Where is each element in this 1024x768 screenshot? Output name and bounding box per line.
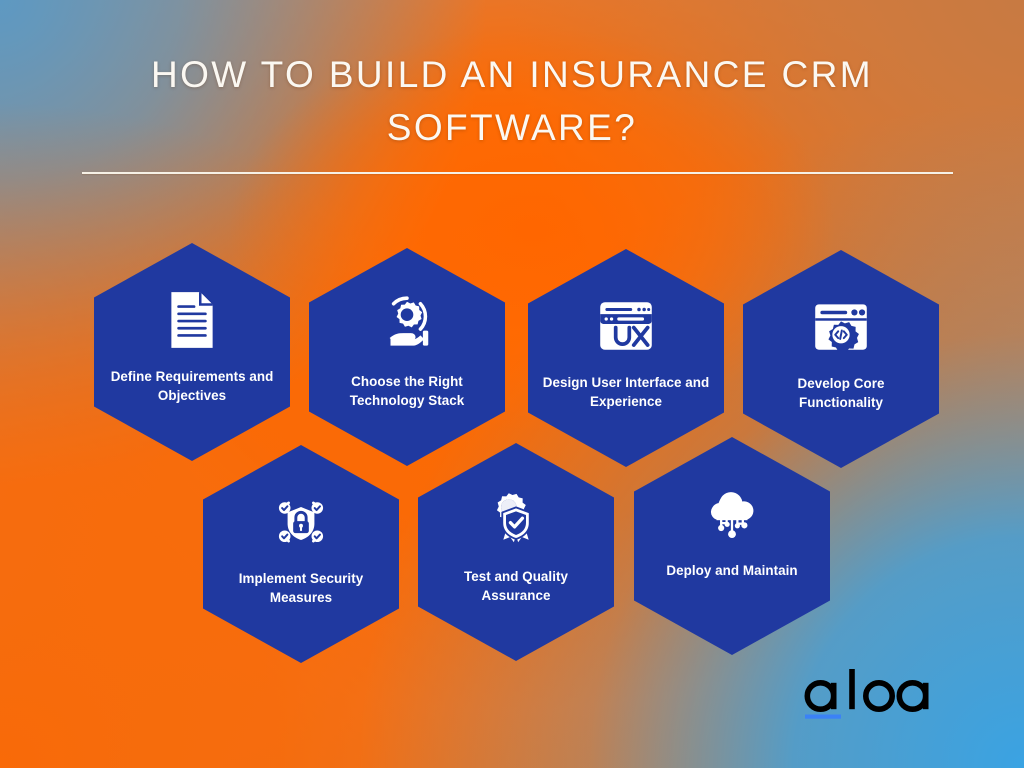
browser-ux-icon	[593, 293, 659, 359]
step-label: Design User Interface and Experience	[540, 373, 712, 411]
step-label: Implement Security Measures	[215, 569, 387, 607]
aloa-logo[interactable]	[800, 660, 950, 728]
page-title-line-1: HOW TO BUILD AN INSURANCE CRM	[0, 48, 1024, 101]
step-label: Test and Quality Assurance	[430, 567, 602, 605]
step-hexagon-test-quality[interactable]: Test and Quality Assurance	[418, 443, 614, 661]
step-hexagon-deploy-maintain[interactable]: Deploy and Maintain	[634, 437, 830, 655]
step-label: Deploy and Maintain	[646, 561, 818, 580]
browser-gear-code-icon	[808, 294, 874, 360]
logo-underline-accent	[805, 715, 841, 719]
step-label: Choose the Right Technology Stack	[321, 372, 493, 410]
step-hexagon-design-ui-ux[interactable]: Design User Interface and Experience	[528, 249, 724, 467]
title-divider-rule	[82, 172, 953, 174]
page-title-line-2: SOFTWARE?	[0, 101, 1024, 154]
page-title: HOW TO BUILD AN INSURANCE CRM SOFTWARE?	[0, 48, 1024, 154]
step-hexagon-develop-core[interactable]: Develop Core Functionality	[743, 250, 939, 468]
step-label: Develop Core Functionality	[755, 374, 927, 412]
step-hexagon-technology-stack[interactable]: Choose the Right Technology Stack	[309, 248, 505, 466]
step-label: Define Requirements and Objectives	[106, 367, 278, 405]
step-hexagon-define-requirements[interactable]: Define Requirements and Objectives	[94, 243, 290, 461]
gear-shield-badge-icon	[483, 487, 549, 553]
document-lines-icon	[159, 287, 225, 353]
hand-holding-gear-icon	[374, 292, 440, 358]
step-hexagon-security-measures[interactable]: Implement Security Measures	[203, 445, 399, 663]
shield-lock-checks-icon	[268, 489, 334, 555]
cloud-network-icon	[699, 481, 765, 547]
